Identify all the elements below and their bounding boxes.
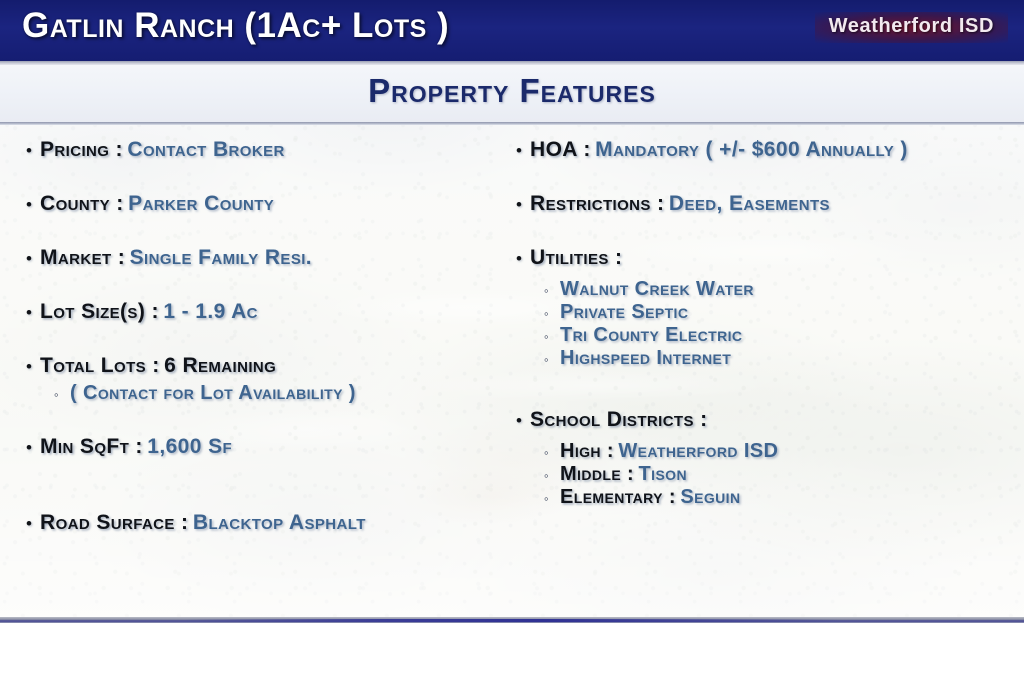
bullet-circle-icon: ◦	[544, 353, 560, 366]
bullet-circle-icon: ◦	[544, 330, 560, 343]
feature-label: County :	[40, 192, 124, 216]
list-item-min-sqft: • Min SqFt : 1,600 Sf	[26, 435, 506, 459]
list-item-county: • County : Parker County	[26, 192, 506, 216]
sub-feature-value: Private Septic	[560, 301, 688, 324]
header-bar: Gatlin Ranch (1Ac+ Lots ) Weatherford IS…	[0, 0, 1024, 61]
bullet-dot-icon: •	[516, 412, 530, 429]
list-item-road-surface: • Road Surface : Blacktop Asphalt	[26, 511, 506, 535]
list-item-lot-size: • Lot Size(s) : 1 - 1.9 Ac	[26, 300, 506, 324]
bullet-circle-icon: ◦	[544, 469, 560, 482]
sub-feature-value: Highspeed Internet	[560, 347, 731, 370]
features-left-column: • Pricing : Contact Broker • County : Pa…	[26, 138, 506, 535]
slide-root: Gatlin Ranch (1Ac+ Lots ) Weatherford IS…	[0, 0, 1024, 682]
bullet-circle-icon: ◦	[544, 284, 560, 297]
sub-feature-label: Elementary :	[560, 486, 676, 509]
feature-label: HOA :	[530, 138, 591, 162]
feature-label: School Districts :	[530, 408, 708, 432]
list-item-market: • Market : Single Family Resi.	[26, 246, 506, 270]
list-item-utility-electric: ◦ Tri County Electric	[516, 324, 1016, 347]
list-item-school-middle: ◦ Middle : Tison	[516, 463, 1016, 486]
bullet-dot-icon: •	[26, 250, 40, 267]
sub-feature-value: Weatherford ISD	[618, 440, 778, 463]
feature-value: 1 - 1.9 Ac	[163, 300, 258, 324]
sub-feature-value: Tri County Electric	[560, 324, 742, 347]
feature-value: Blacktop Asphalt	[193, 511, 366, 535]
page-title: Gatlin Ranch (1Ac+ Lots )	[22, 6, 449, 46]
feature-value: Single Family Resi.	[130, 246, 312, 270]
feature-label: Road Surface :	[40, 511, 188, 535]
list-item-school-high: ◦ High : Weatherford ISD	[516, 440, 1016, 463]
feature-label: Pricing :	[40, 138, 123, 162]
list-item-lot-availability: ◦ ( Contact for Lot Availability )	[26, 382, 506, 405]
list-item-total-lots: • Total Lots : 6 Remaining	[26, 354, 506, 378]
list-item-hoa: • HOA : Mandatory ( +/- $600 Annually )	[516, 138, 1016, 162]
bullet-dot-icon: •	[516, 250, 530, 267]
sub-feature-value: Seguin	[680, 486, 740, 509]
feature-value: Deed, Easements	[669, 192, 830, 216]
bullet-dot-icon: •	[26, 515, 40, 532]
sub-feature-label: Middle :	[560, 463, 634, 486]
section-title: Property Features	[0, 72, 1024, 110]
list-item-utility-water: ◦ Walnut Creek Water	[516, 278, 1016, 301]
feature-label: Market :	[40, 246, 125, 270]
features-right-column: • HOA : Mandatory ( +/- $600 Annually ) …	[516, 138, 1016, 509]
bullet-dot-icon: •	[26, 439, 40, 456]
bullet-circle-icon: ◦	[544, 307, 560, 320]
isd-badge: Weatherford ISD	[815, 12, 1008, 43]
sub-feature-value: Tison	[639, 463, 687, 486]
list-item-utility-internet: ◦ Highspeed Internet	[516, 347, 1016, 370]
list-item-school-elementary: ◦ Elementary : Seguin	[516, 486, 1016, 509]
list-item-pricing: • Pricing : Contact Broker	[26, 138, 506, 162]
bullet-dot-icon: •	[516, 142, 530, 159]
sub-feature-value: ( Contact for Lot Availability )	[70, 382, 356, 405]
feature-label: Total Lots :	[40, 354, 160, 378]
sub-feature-value: Walnut Creek Water	[560, 278, 754, 301]
sub-feature-label: High :	[560, 440, 614, 463]
bullet-circle-icon: ◦	[544, 446, 560, 459]
list-item-utility-septic: ◦ Private Septic	[516, 301, 1016, 324]
bullet-circle-icon: ◦	[544, 492, 560, 505]
header-divider-bottom	[0, 122, 1024, 125]
feature-label: Restrictions :	[530, 192, 664, 216]
feature-value: Mandatory ( +/- $600 Annually )	[595, 138, 908, 162]
bullet-dot-icon: •	[26, 142, 40, 159]
feature-label: Utilities :	[530, 246, 622, 270]
feature-label: Lot Size(s) :	[40, 300, 159, 324]
bullet-circle-icon: ◦	[54, 388, 70, 401]
footer-whitespace	[0, 623, 1024, 682]
feature-value: Contact Broker	[127, 138, 284, 162]
bullet-dot-icon: •	[26, 196, 40, 213]
feature-value: 6 Remaining	[164, 354, 276, 378]
feature-value: 1,600 Sf	[147, 435, 232, 459]
bullet-dot-icon: •	[26, 358, 40, 375]
list-item-restrictions: • Restrictions : Deed, Easements	[516, 192, 1016, 216]
bullet-dot-icon: •	[26, 304, 40, 321]
feature-value: Parker County	[128, 192, 274, 216]
feature-label: Min SqFt :	[40, 435, 143, 459]
bullet-dot-icon: •	[516, 196, 530, 213]
list-item-utilities: • Utilities :	[516, 246, 1016, 270]
list-item-school-districts: • School Districts :	[516, 408, 1016, 432]
